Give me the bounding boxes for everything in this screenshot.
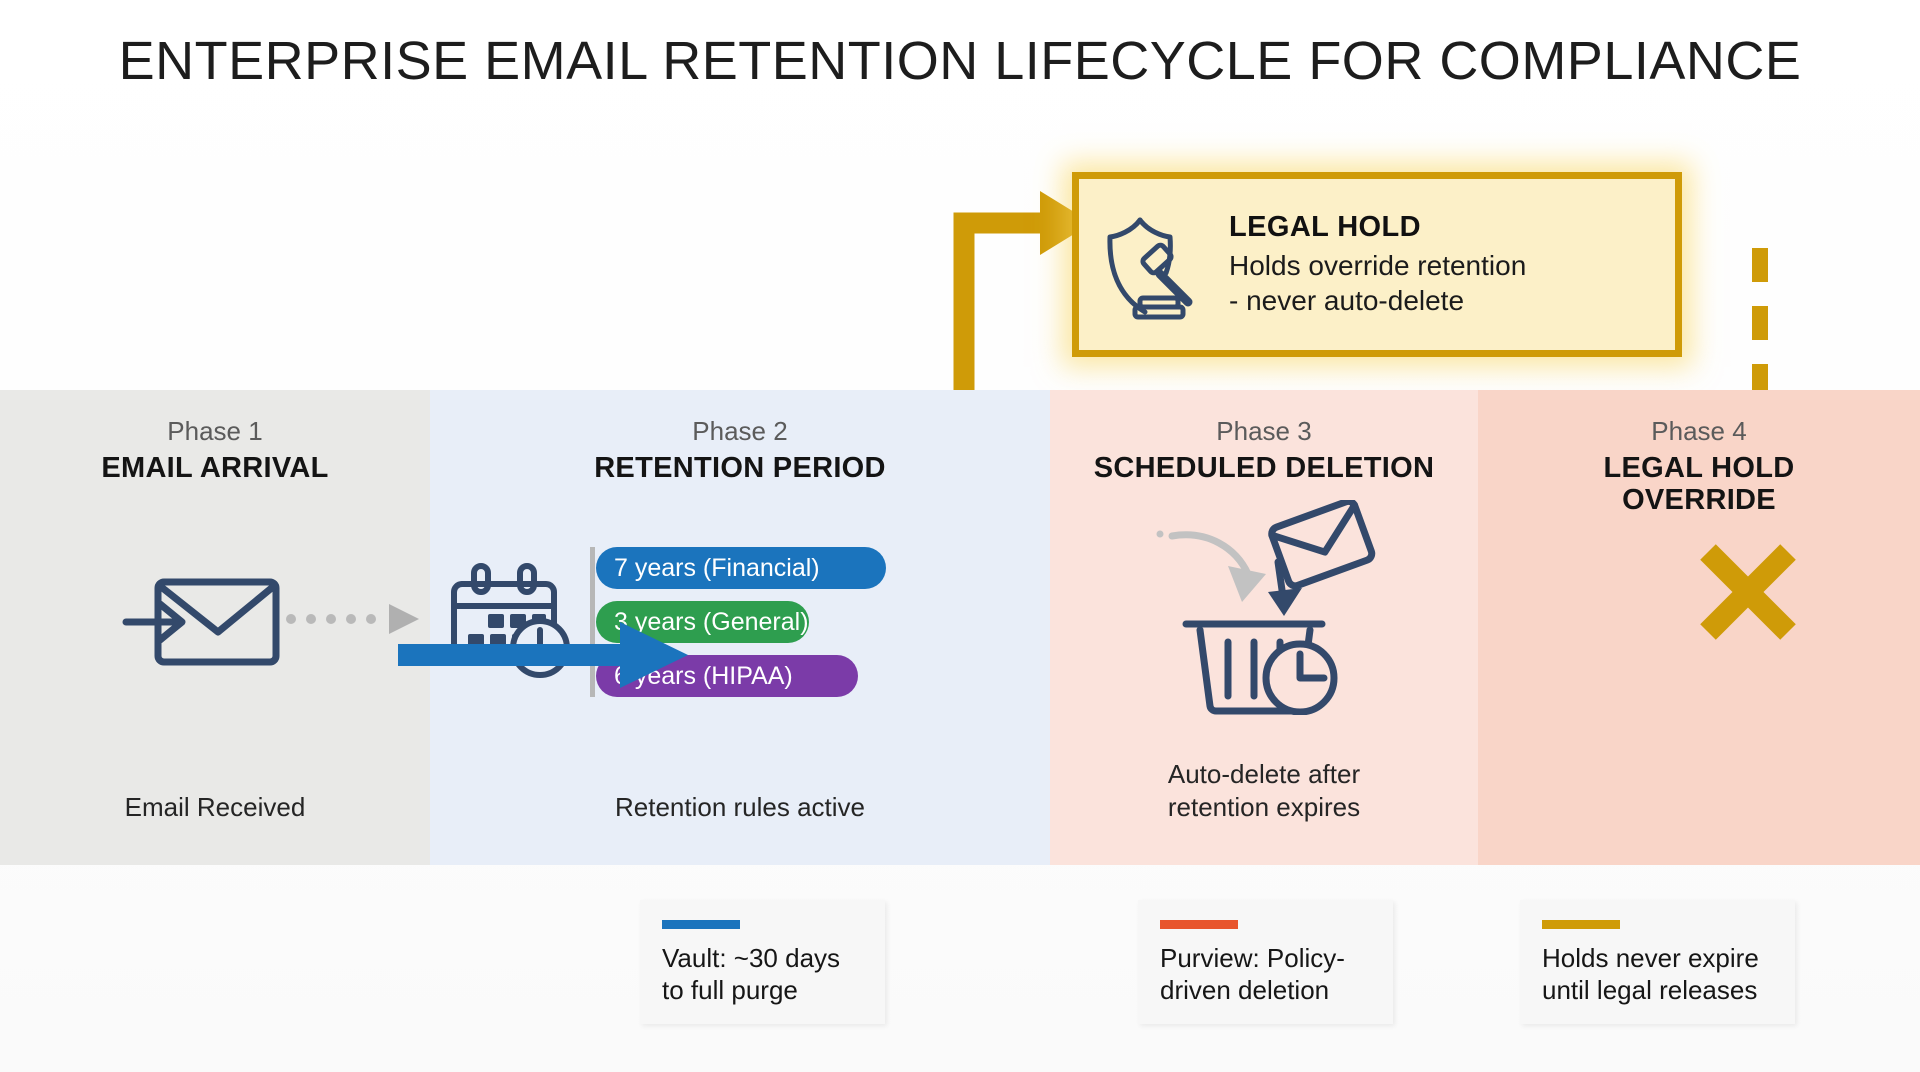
phase-panel-4: Phase 4 LEGAL HOLD OVERRIDE (1478, 390, 1920, 865)
legend-text-vault: Vault: ~30 days to full purge (662, 943, 863, 1006)
legend-vault-line1: Vault: ~30 days (662, 943, 840, 973)
phase-1-title: EMAIL ARRIVAL (0, 452, 430, 484)
callout-title: LEGAL HOLD (1229, 211, 1661, 244)
phase-3-number: Phase 3 (1050, 416, 1478, 447)
legend-text-holds: Holds never expire until legal releases (1542, 943, 1773, 1006)
phase-panel-3: Phase 3 SCHEDULED DELETION (1050, 390, 1478, 865)
phase-1-number: Phase 1 (0, 416, 430, 447)
legend-purview-line1: Purview: Policy- (1160, 943, 1345, 973)
phase-2-number: Phase 2 (430, 416, 1050, 447)
legend-holds-line2: until legal releases (1542, 975, 1757, 1005)
phase-4-number: Phase 4 (1478, 416, 1920, 447)
legend-vault-line2: to full purge (662, 975, 798, 1005)
phase-3-title: SCHEDULED DELETION (1050, 452, 1478, 484)
legend-swatch-holds (1542, 920, 1620, 929)
gold-x-icon (1696, 540, 1800, 649)
legend-purview-line2: driven deletion (1160, 975, 1329, 1005)
legend-item-vault: Vault: ~30 days to full purge (640, 900, 885, 1024)
legend-item-purview: Purview: Policy- driven deletion (1138, 900, 1393, 1024)
legend: Vault: ~30 days to full purge Purview: P… (0, 900, 1920, 1025)
phase-4-title-line1: LEGAL HOLD (1604, 452, 1795, 484)
legend-swatch-vault (662, 920, 740, 929)
trash-clock-envelope-icon (1150, 500, 1380, 720)
shield-gavel-icon (1079, 206, 1229, 324)
legend-item-holds: Holds never expire until legal releases (1520, 900, 1795, 1024)
legend-holds-line1: Holds never expire (1542, 943, 1759, 973)
phase-2-caption: Retention rules active (430, 791, 1050, 824)
page-title: ENTERPRISE EMAIL RETENTION LIFECYCLE FOR… (0, 30, 1920, 92)
incoming-envelope-icon (120, 560, 285, 685)
legend-text-purview: Purview: Policy- driven deletion (1160, 943, 1371, 1006)
phase-band: Phase 1 EMAIL ARRIVAL (0, 390, 1920, 865)
infographic-canvas: ENTERPRISE EMAIL RETENTION LIFECYCLE FOR… (0, 0, 1920, 1072)
retention-bar-financial[interactable]: 7 years (Financial) (596, 547, 886, 589)
legend-swatch-purview (1160, 920, 1238, 929)
phase-4-title-line2: OVERRIDE (1622, 484, 1776, 516)
phase-2-title: RETENTION PERIOD (430, 452, 1050, 484)
phase-3-caption-line1: Auto-delete after (1168, 759, 1360, 789)
phase-1-caption: Email Received (0, 791, 430, 824)
blue-flow-arrow (398, 620, 688, 695)
phase-panel-1: Phase 1 EMAIL ARRIVAL (0, 390, 430, 865)
phase-4-title: LEGAL HOLD OVERRIDE (1478, 452, 1920, 517)
phase-3-caption-line2: retention expires (1168, 792, 1360, 822)
phase-3-caption: Auto-delete after retention expires (1050, 758, 1478, 823)
